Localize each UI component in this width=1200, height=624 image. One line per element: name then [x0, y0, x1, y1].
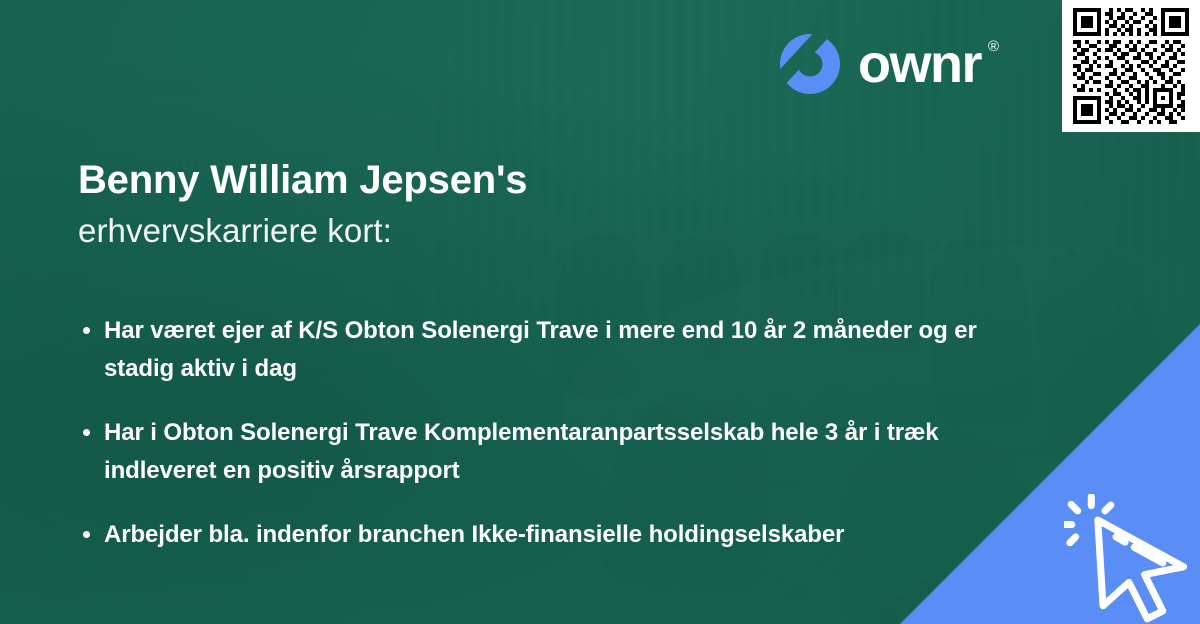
- list-item-text: Arbejder bla. indenfor branchen Ikke-fin…: [104, 521, 844, 548]
- list-item-text: Har været ejer af K/S Obton Solenergi Tr…: [104, 317, 977, 382]
- page-title: Benny William Jepsen's: [78, 157, 898, 204]
- career-facts-list: Har været ejer af K/S Obton Solenergi Tr…: [80, 312, 980, 554]
- qr-code-panel[interactable]: [1062, 0, 1200, 132]
- list-item-text: Har i Obton Solenergi Trave Komplementar…: [104, 419, 939, 484]
- headline-block: Benny William Jepsen's erhvervskarriere …: [78, 157, 898, 253]
- ownr-logo: ownr®: [778, 32, 999, 96]
- ownr-business-career-card: ownr®: [0, 0, 1200, 624]
- registered-trademark-icon: ®: [988, 39, 999, 54]
- list-item: Arbejder bla. indenfor branchen Ikke-fin…: [80, 516, 980, 554]
- ownr-wordmark-text: ownr: [858, 34, 981, 94]
- list-item: Har i Obton Solenergi Trave Komplementar…: [80, 414, 980, 490]
- bullet-dot-icon: [83, 429, 90, 436]
- ownr-wordmark: ownr®: [858, 37, 999, 91]
- bullet-dot-icon: [83, 531, 90, 538]
- page-subtitle: erhvervskarriere kort:: [78, 210, 898, 253]
- list-item: Har været ejer af K/S Obton Solenergi Tr…: [80, 312, 980, 388]
- ownr-circle-mark-icon: [778, 32, 842, 96]
- bullet-dot-icon: [83, 327, 90, 334]
- qr-code-icon[interactable]: [1073, 8, 1189, 124]
